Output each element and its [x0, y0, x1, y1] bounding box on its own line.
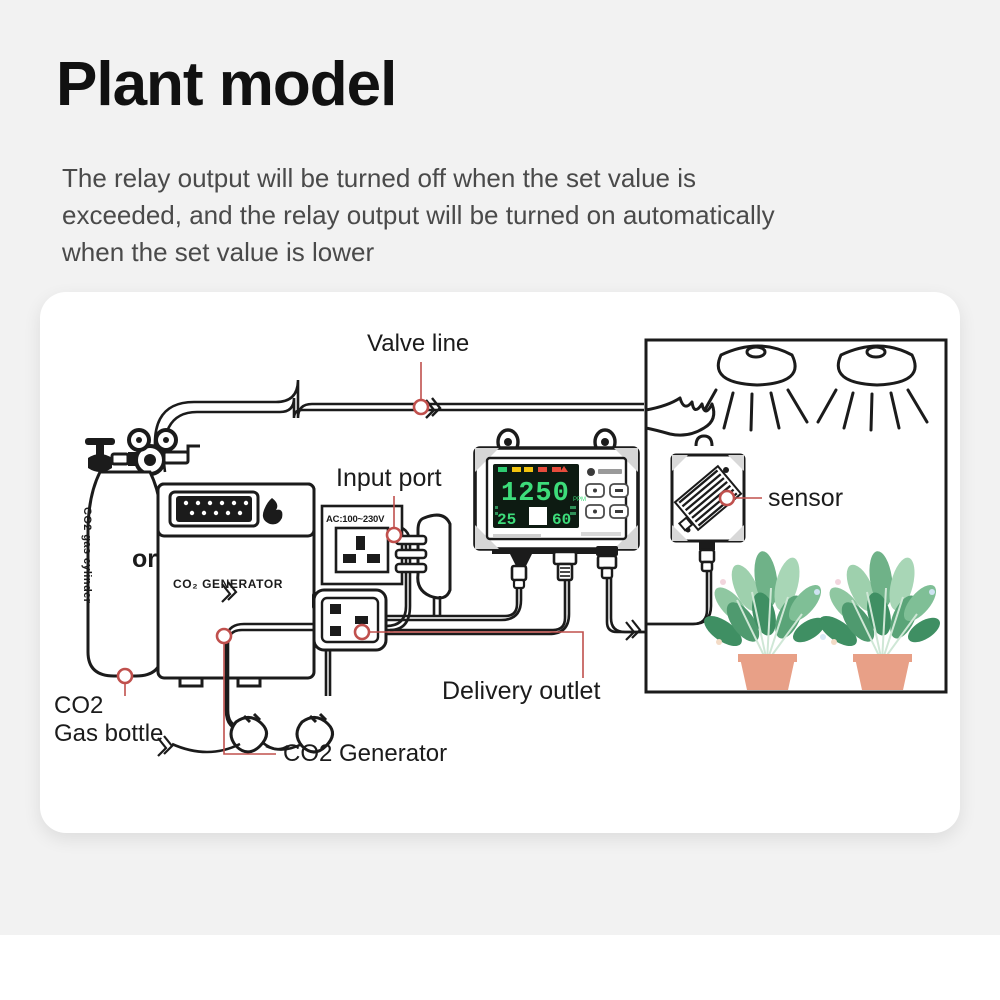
- display-humidity-value: 60: [552, 511, 571, 529]
- power-plug-icon: [231, 714, 288, 752]
- controller-display: 1250 PPM 25 60: [493, 464, 586, 529]
- page-subtitle: The relay output will be turned off when…: [62, 160, 967, 271]
- label-delivery-outlet: Delivery outlet: [442, 677, 600, 706]
- screenshot-root: Plant model The relay output will be tur…: [0, 0, 1000, 1000]
- label-co2-gas-bottle: CO2 Gas bottle: [54, 692, 163, 748]
- label-generator-body: CO₂ GENERATOR: [173, 577, 283, 591]
- cylinder-regulator-icon: [85, 430, 200, 474]
- display-temp-value: 25: [497, 511, 516, 529]
- svg-text:PPM: PPM: [573, 497, 586, 503]
- grow-room: [646, 340, 946, 692]
- subtitle-line-1: The relay output will be turned off when…: [62, 160, 967, 197]
- label-co2-gas-bottle-line2: Gas bottle: [54, 720, 163, 748]
- label-co2-gas-bottle-line1: CO2: [54, 692, 163, 720]
- label-co2-generator: CO2 Generator: [283, 740, 447, 768]
- diagram-card: 1250 PPM 25 60: [40, 292, 960, 833]
- label-input-port: Input port: [336, 464, 442, 493]
- controller-connectors: [492, 546, 618, 588]
- co2-controller[interactable]: 1250 PPM 25 60: [475, 430, 638, 588]
- label-valve-line: Valve line: [367, 330, 469, 358]
- label-sensor: sensor: [768, 484, 843, 513]
- subtitle-line-2: exceeded, and the relay output will be t…: [62, 197, 967, 234]
- label-ac-rating: AC:100~230V: [326, 514, 384, 525]
- label-cylinder-body: CO2 gas cylinder: [81, 507, 93, 603]
- display-ppm-value: 1250: [501, 479, 570, 509]
- label-or: or: [132, 545, 157, 574]
- plant-model-diagram: 1250 PPM 25 60: [40, 292, 960, 833]
- subtitle-line-3: when the set value is lower: [62, 234, 967, 271]
- page-title: Plant model: [56, 52, 396, 117]
- delivery-outlet-socket[interactable]: [314, 590, 386, 650]
